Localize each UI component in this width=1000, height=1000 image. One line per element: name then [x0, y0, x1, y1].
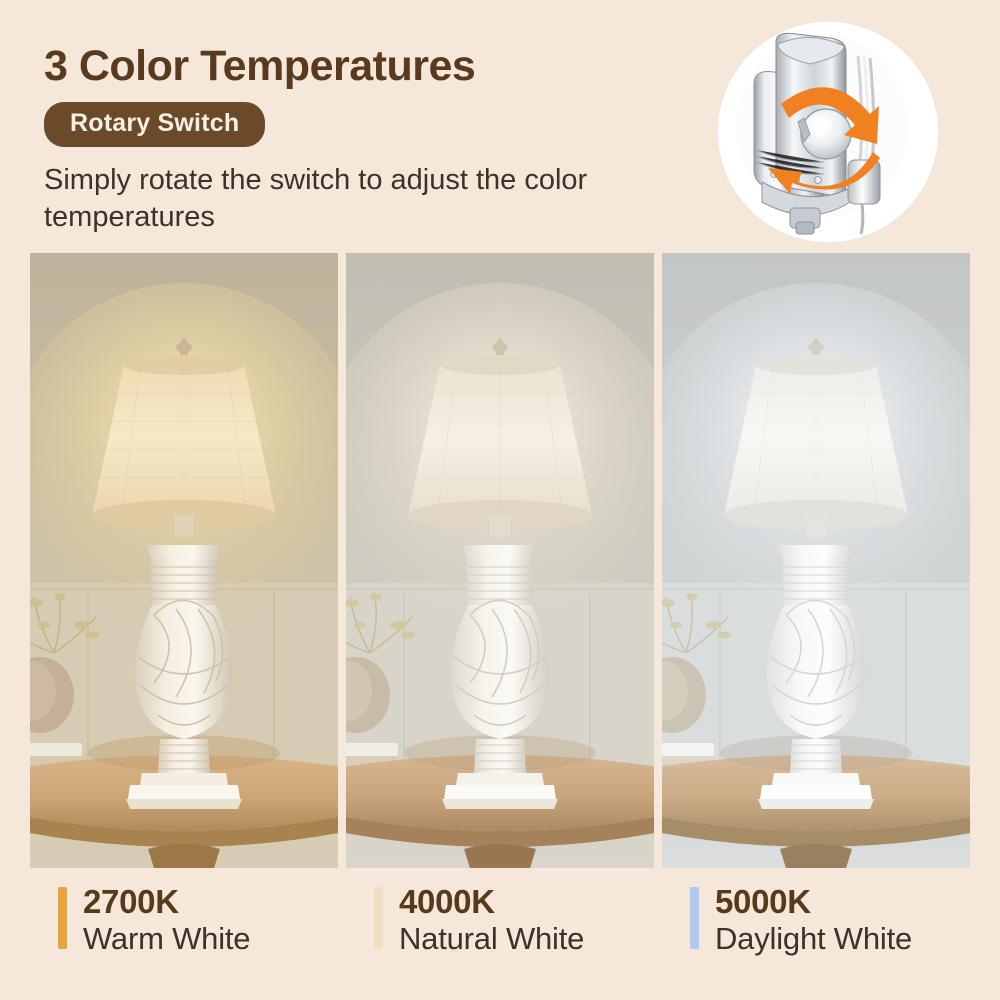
lamp-photo-2700k [30, 253, 338, 868]
temperature-name-5000k: Daylight White [715, 921, 912, 958]
kelvin-label-2700k: 2700K [83, 884, 250, 921]
rotary-switch-inset [718, 22, 938, 242]
accent-bar-5000k [690, 887, 699, 949]
panel-2700k[interactable] [30, 253, 338, 868]
accent-bar-2700k [58, 887, 67, 949]
caption-row: 2700K Warm White 4000K Natural White 500… [30, 884, 970, 964]
temperature-name-4000k: Natural White [399, 921, 584, 958]
kelvin-label-5000k: 5000K [715, 884, 912, 921]
caption-5000k: 5000K Daylight White [662, 884, 970, 964]
rotary-switch-illustration [718, 22, 938, 242]
accent-bar-4000k [374, 887, 383, 949]
header-block: 3 Color Temperatures Rotary Switch Simpl… [44, 44, 684, 236]
panel-5000k[interactable] [662, 253, 970, 868]
caption-4000k: 4000K Natural White [346, 884, 654, 964]
lamp-photo-4000k [346, 253, 654, 868]
panel-4000k[interactable] [346, 253, 654, 868]
kelvin-label-4000k: 4000K [399, 884, 584, 921]
feature-badge: Rotary Switch [44, 102, 265, 147]
subtitle-text: Simply rotate the switch to adjust the c… [44, 162, 624, 236]
page-title: 3 Color Temperatures [44, 44, 684, 89]
temperature-name-2700k: Warm White [83, 921, 250, 958]
color-temperature-gallery [30, 253, 970, 868]
lamp-photo-5000k [662, 253, 970, 868]
caption-2700k: 2700K Warm White [30, 884, 338, 964]
